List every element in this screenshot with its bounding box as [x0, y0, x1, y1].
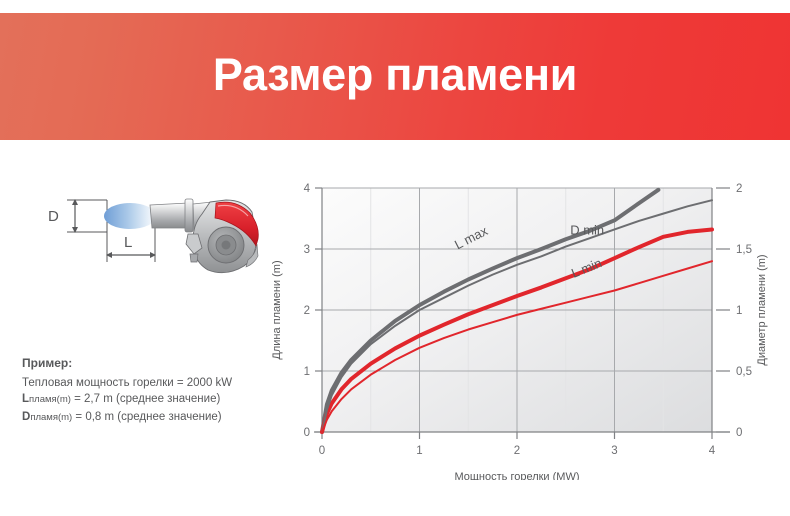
- tick-label-left: 3: [304, 244, 310, 256]
- example-diameter-subscript: пламя(m): [30, 412, 72, 423]
- page-title: Размер пламени: [0, 13, 790, 140]
- example-diameter-value: = 0,8 m (среднее значение): [75, 411, 221, 423]
- example-block: Пример: Тепловая мощность горелки = 2000…: [22, 355, 292, 426]
- dimension-d: D: [48, 199, 107, 233]
- tick-label-left: 2: [304, 305, 310, 317]
- tick-label-bottom: 3: [611, 445, 617, 457]
- flame-shape: [104, 203, 156, 229]
- flame-size-chart: 0123400,511,5201234L maxL minD maxD minД…: [262, 175, 782, 480]
- tick-label-right: 1,5: [736, 244, 752, 256]
- header-banner: Размер пламени: [0, 13, 790, 140]
- example-length-subscript: пламя(m): [29, 394, 71, 405]
- tick-label-right: 2: [736, 183, 742, 195]
- tick-label-right: 1: [736, 305, 742, 317]
- dimension-d-label: D: [48, 208, 59, 225]
- tick-label-left: 1: [304, 366, 310, 378]
- dimension-l-label: L: [124, 234, 132, 251]
- tick-label-bottom: 4: [709, 445, 716, 457]
- tick-label-bottom: 1: [416, 445, 422, 457]
- y2-axis-title: Диаметр пламени (m): [756, 254, 768, 365]
- tick-label-left: 4: [304, 183, 311, 195]
- example-line-diameter: Dпламя(m) = 0,8 m (среднее значение): [22, 409, 292, 427]
- example-length-symbol: L: [22, 393, 29, 405]
- example-title: Пример:: [22, 355, 292, 372]
- tick-label-right: 0,5: [736, 366, 752, 378]
- curve-label-d-min: D min: [570, 222, 604, 237]
- x-axis-title: Мощность горелки (MW): [454, 471, 579, 480]
- y-axis-title: Длина пламени (m): [271, 260, 283, 359]
- tick-label-bottom: 2: [514, 445, 520, 457]
- tick-label-left: 0: [304, 427, 310, 439]
- tick-label-bottom: 0: [319, 445, 325, 457]
- example-length-value: = 2,7 m (среднее значение): [74, 393, 220, 405]
- example-line-power: Тепловая мощность горелки = 2000 kW: [22, 375, 292, 392]
- tick-label-right: 0: [736, 427, 742, 439]
- burner-illustration: D L: [12, 182, 260, 297]
- example-line-length: Lпламя(m) = 2,7 m (среднее значение): [22, 391, 292, 409]
